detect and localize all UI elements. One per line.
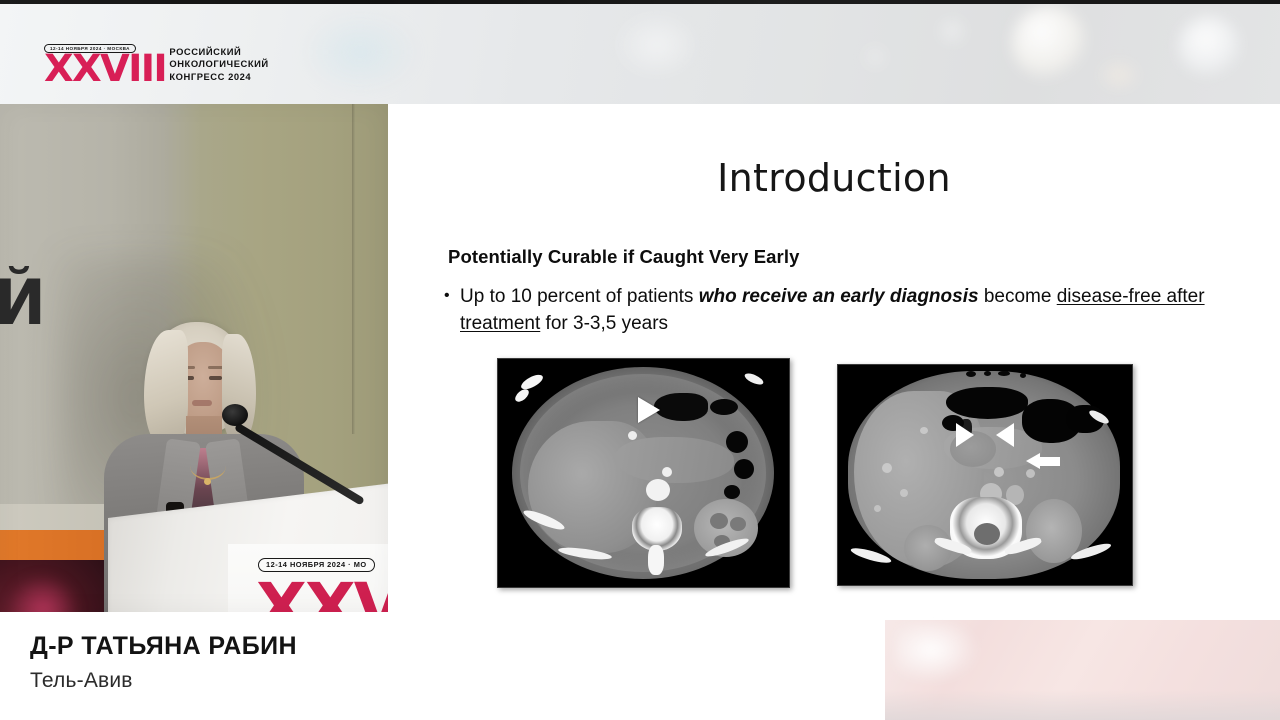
speaker-necklace [190, 452, 226, 480]
bokeh-highlight [1012, 6, 1086, 80]
slide-title: Introduction [388, 156, 1280, 200]
hepatic-vessel [920, 427, 928, 434]
congress-name-line-2: ОНКОЛОГИЧЕСКИЙ [169, 58, 268, 71]
bokeh-highlight [300, 10, 420, 94]
speaker-city: Тель-Авив [30, 669, 133, 693]
congress-logo-mark: 12-14 НОЯБРЯ 2024 · МОСКВА XXVIII [44, 44, 161, 85]
presentation-viewer: 12-14 НОЯБРЯ 2024 · МОСКВА XXVIII РОССИЙ… [0, 0, 1280, 720]
slide-bullet-item: • Up to 10 percent of patients who recei… [444, 284, 1212, 338]
spinous-process [648, 545, 664, 575]
arrow-tip [1026, 453, 1040, 469]
stomach-gas [946, 387, 1028, 419]
speaker-pendant [204, 478, 211, 485]
ct-scan-right-content [838, 365, 1132, 585]
banner-glow [6, 574, 80, 612]
bullet-marker: • [444, 284, 450, 308]
congress-name-line-3: КОНГРЕСС 2024 [169, 71, 268, 84]
bowel-gas [726, 431, 748, 453]
speaker-video[interactable]: Й 12-14 НОЯБРЯ 2024 · МО XXVI РОССИЙСКИЙ [0, 104, 388, 612]
wall-letter-glyph: Й [0, 272, 46, 334]
decorative-pink-panel-glow [895, 622, 981, 684]
speaker-lips [192, 400, 212, 406]
speaker-hair-strand [144, 330, 188, 448]
bullet-text: Up to 10 percent of patients who receive… [444, 284, 1212, 338]
congress-roman-numeral: XXVIII [44, 54, 166, 84]
podium-roman-numeral: XXVI [256, 578, 388, 612]
congress-logo: 12-14 НОЯБРЯ 2024 · МОСКВА XXVIII РОССИЙ… [44, 44, 269, 85]
bokeh-highlight [612, 10, 702, 80]
hepatic-vessel [874, 505, 881, 512]
ct-arrow-icon [1026, 455, 1060, 468]
congress-logo-text: РОССИЙСКИЙ ОНКОЛОГИЧЕСКИЙ КОНГРЕСС 2024 [169, 46, 268, 85]
bullet-text-part-3: for 3-3,5 years [540, 313, 668, 334]
vessel [628, 431, 637, 440]
slide-subheading: Potentially Curable if Caught Very Early [448, 246, 800, 268]
kidney-calyx [730, 517, 746, 531]
rib [743, 371, 765, 386]
ct-scan-left [497, 358, 790, 588]
speaker-brow [208, 366, 223, 369]
ct-scan-right [837, 364, 1133, 586]
bowel-gas [734, 459, 754, 479]
bullet-text-emphasis: who receive an early diagnosis [699, 286, 979, 307]
speaker-name: Д-Р ТАТЬЯНА РАБИН [30, 632, 297, 661]
bullet-text-part-2: become [979, 286, 1057, 307]
stomach-gas [654, 393, 708, 421]
vessel [1026, 469, 1035, 478]
ct-arrowhead-icon [638, 397, 660, 423]
hepatic-vessel [882, 463, 892, 473]
vessel [662, 467, 672, 477]
bokeh-highlight [934, 16, 970, 46]
decorative-pink-panel-shade [885, 690, 1280, 720]
congress-name-line-1: РОССИЙСКИЙ [169, 46, 268, 59]
microphone-head [222, 404, 248, 426]
speaker-eye [209, 376, 222, 380]
bowel-gas [984, 371, 991, 376]
ct-arrowhead-left-icon [996, 423, 1014, 447]
bowel-gas [710, 399, 738, 415]
ct-scan-left-content [498, 359, 789, 587]
arrow-shaft [1038, 457, 1060, 466]
bowel-gas [966, 371, 976, 377]
rib [513, 387, 531, 404]
hepatic-vessel [900, 489, 908, 497]
kidney-calyx [710, 513, 728, 529]
banner-orange-strip [0, 530, 120, 560]
banner-top-strip [0, 504, 120, 532]
slide-area[interactable]: Introduction Potentially Curable if Caug… [388, 104, 1280, 612]
bullet-text-part-1: Up to 10 percent of patients [460, 286, 699, 307]
bowel-gas [998, 371, 1010, 376]
header-bar: 12-14 НОЯБРЯ 2024 · МОСКВА XXVIII РОССИЙ… [0, 0, 1280, 104]
wall-seam [352, 104, 355, 434]
bokeh-highlight [860, 44, 890, 70]
bokeh-highlight [1178, 16, 1240, 78]
bokeh-highlight [1096, 58, 1142, 92]
bowel-gas [724, 485, 740, 499]
aorta [646, 479, 670, 501]
ct-arrowhead-right-icon [956, 423, 974, 447]
spinal-canal [974, 523, 1000, 545]
vessel [994, 467, 1004, 477]
pancreas-region [616, 437, 734, 483]
bowel-gas [1020, 373, 1026, 378]
